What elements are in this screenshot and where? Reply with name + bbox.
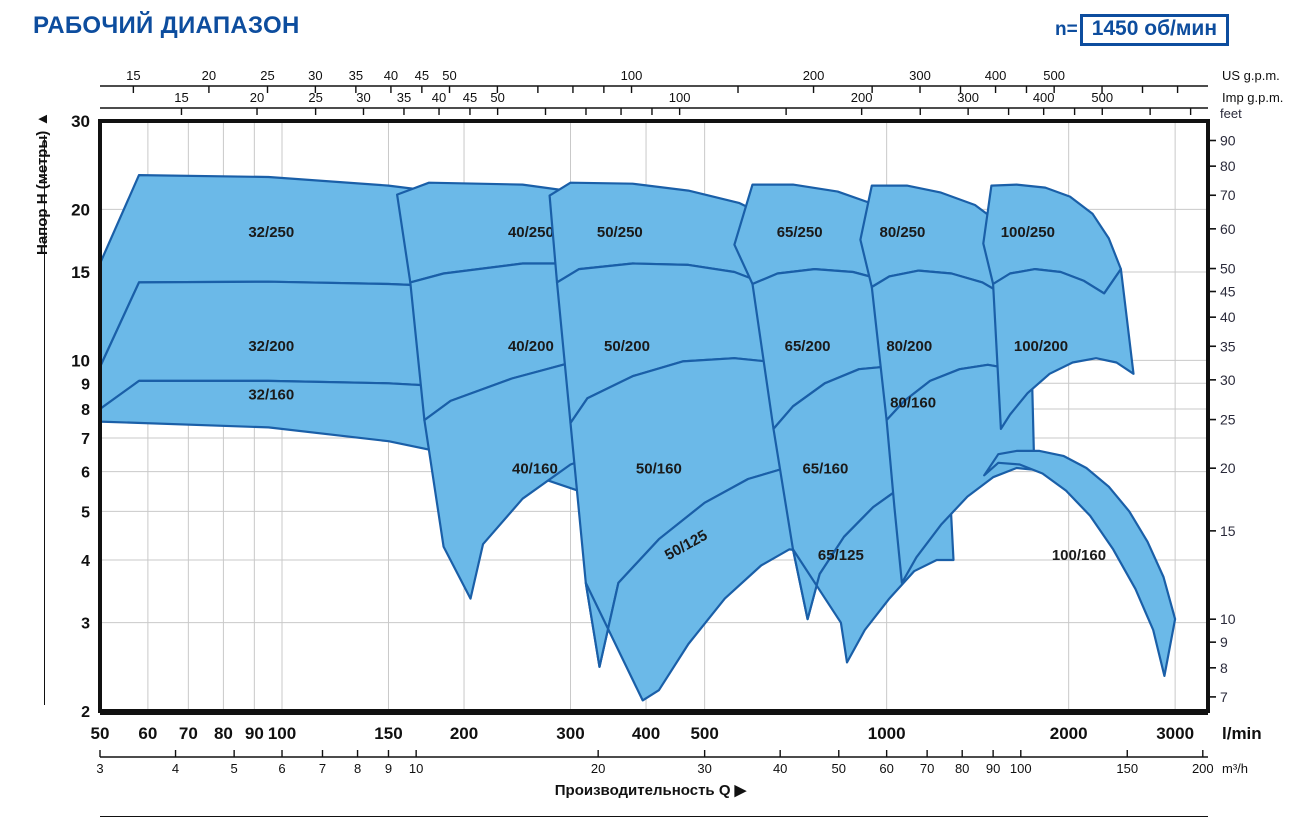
y-tick-label-8: 8 xyxy=(81,402,90,419)
x-axis2-tick-label-90: 90 xyxy=(986,761,1000,776)
x-axis2-tick-label-40: 40 xyxy=(773,761,787,776)
envelope-label: 80/200 xyxy=(886,338,932,355)
y-right-tick-label-50: 50 xyxy=(1220,261,1236,277)
envelope-label: 65/125 xyxy=(818,547,864,564)
x-axis2-tick-label-60: 60 xyxy=(879,761,893,776)
envelope-label: 40/160 xyxy=(512,460,558,477)
x-top-imp-axis-tick-label-100: 100 xyxy=(669,90,691,105)
x-axis2-tick-label-8: 8 xyxy=(354,761,361,776)
y-right-tick-label-30: 30 xyxy=(1220,372,1236,388)
x-top-us-axis-tick-label-400: 400 xyxy=(985,68,1007,83)
y-right-tick-label-8: 8 xyxy=(1220,660,1228,676)
x-tick-label-150: 150 xyxy=(374,724,402,743)
x-tick-label-3000: 3000 xyxy=(1156,724,1194,743)
y-tick-label-2: 2 xyxy=(81,704,90,721)
y-right-tick-label-40: 40 xyxy=(1220,309,1236,325)
x-axis2-tick-label-7: 7 xyxy=(319,761,326,776)
x-axis2-tick-label-5: 5 xyxy=(231,761,238,776)
x-tick-label-50: 50 xyxy=(91,724,110,743)
y-tick-label-4: 4 xyxy=(81,553,90,570)
envelope-label: 50/250 xyxy=(597,224,643,241)
x-axis2-tick-label-70: 70 xyxy=(920,761,934,776)
y-right-tick-label-20: 20 xyxy=(1220,460,1236,476)
x-tick-label-1000: 1000 xyxy=(868,724,906,743)
x-top-imp-axis-tick-label-25: 25 xyxy=(308,90,322,105)
x-tick-label-200: 200 xyxy=(450,724,478,743)
x-top-imp-axis-tick-label-15: 15 xyxy=(174,90,188,105)
x-top-imp-axis-unit-label: Imp g.p.m. xyxy=(1222,90,1283,105)
envelope-label: 65/200 xyxy=(785,338,831,355)
x-tick-label-400: 400 xyxy=(632,724,660,743)
envelope-label: 65/160 xyxy=(802,460,848,477)
x-axis2-tick-label-150: 150 xyxy=(1116,761,1138,776)
y-tick-label-30: 30 xyxy=(71,112,90,131)
x-top-imp-axis-tick-label-200: 200 xyxy=(851,90,873,105)
envelope-label: 50/200 xyxy=(604,338,650,355)
envelope-label: 65/250 xyxy=(777,224,823,241)
y-right-tick-label-10: 10 xyxy=(1220,611,1236,627)
x-top-imp-axis-tick-label-30: 30 xyxy=(356,90,370,105)
envelope-label: 40/250 xyxy=(508,224,554,241)
x-top-us-axis-tick-label-20: 20 xyxy=(202,68,216,83)
x-top-us-axis-tick-label-50: 50 xyxy=(442,68,456,83)
x-axis2-tick-label-20: 20 xyxy=(591,761,605,776)
y-right-tick-label-80: 80 xyxy=(1220,158,1236,174)
y-right-unit-label: feet xyxy=(1220,106,1242,121)
y-right-tick-label-70: 70 xyxy=(1220,187,1236,203)
x-axis2-tick-label-100: 100 xyxy=(1010,761,1032,776)
x-tick-label-90: 90 xyxy=(245,724,264,743)
x-axis2-tick-label-6: 6 xyxy=(278,761,285,776)
envelope-label: 100/250 xyxy=(1001,224,1055,241)
x-tick-label-100: 100 xyxy=(268,724,296,743)
y-tick-label-20: 20 xyxy=(71,200,90,219)
x-top-imp-axis-tick-label-50: 50 xyxy=(490,90,504,105)
x-axis2-tick-label-10: 10 xyxy=(409,761,423,776)
y-right-tick-label-35: 35 xyxy=(1220,338,1236,354)
x-top-us-axis-unit-label: US g.p.m. xyxy=(1222,68,1280,83)
y-right-tick-label-60: 60 xyxy=(1220,221,1236,237)
y-tick-label-9: 9 xyxy=(81,376,90,393)
x-top-us-axis-tick-label-15: 15 xyxy=(126,68,140,83)
x-axis2-tick-label-30: 30 xyxy=(697,761,711,776)
x-top-us-axis-tick-label-45: 45 xyxy=(415,68,429,83)
x-top-us-axis-tick-label-25: 25 xyxy=(260,68,274,83)
envelope-label: 50/160 xyxy=(636,460,682,477)
x-axis2-tick-label-3: 3 xyxy=(96,761,103,776)
x-axis2-tick-label-9: 9 xyxy=(385,761,392,776)
x-tick-label-70: 70 xyxy=(179,724,198,743)
envelope-label: 40/200 xyxy=(508,338,554,355)
y-tick-label-5: 5 xyxy=(81,504,90,521)
x-axis2-tick-label-200: 200 xyxy=(1192,761,1214,776)
y-tick-label-7: 7 xyxy=(81,431,90,448)
x-axis2-tick-label-4: 4 xyxy=(172,761,179,776)
y-tick-label-10: 10 xyxy=(71,351,90,370)
envelope-label: 80/250 xyxy=(879,224,925,241)
x-top-imp-axis-tick-label-40: 40 xyxy=(432,90,446,105)
y-right-tick-label-7: 7 xyxy=(1220,689,1228,705)
x-top-imp-axis-tick-label-20: 20 xyxy=(250,90,264,105)
y-tick-label-3: 3 xyxy=(81,616,90,633)
x-top-imp-axis-tick-label-500: 500 xyxy=(1091,90,1113,105)
x-top-us-axis-tick-label-40: 40 xyxy=(384,68,398,83)
x-tick-label-2000: 2000 xyxy=(1050,724,1088,743)
envelope-label: 100/160 xyxy=(1052,547,1106,564)
x-tick-label-300: 300 xyxy=(556,724,584,743)
x-axis2-tick-label-80: 80 xyxy=(955,761,969,776)
x-axis2-tick-label-50: 50 xyxy=(832,761,846,776)
y-right-tick-label-90: 90 xyxy=(1220,132,1236,148)
envelope-label: 32/200 xyxy=(248,338,294,355)
x-top-imp-axis-tick-label-35: 35 xyxy=(397,90,411,105)
envelope-label: 80/160 xyxy=(890,395,936,412)
x-tick-label-500: 500 xyxy=(690,724,718,743)
envelope-label: 32/160 xyxy=(248,387,294,404)
x-top-us-axis-tick-label-100: 100 xyxy=(621,68,643,83)
x-unit-label: l/min xyxy=(1222,724,1262,743)
x-tick-label-80: 80 xyxy=(214,724,233,743)
x-tick-label-60: 60 xyxy=(138,724,157,743)
x-top-us-axis-tick-label-300: 300 xyxy=(909,68,931,83)
y-right-tick-label-15: 15 xyxy=(1220,523,1236,539)
y-right-tick-label-25: 25 xyxy=(1220,412,1236,428)
y-right-tick-label-9: 9 xyxy=(1220,634,1228,650)
x-top-us-axis-tick-label-200: 200 xyxy=(803,68,825,83)
y-right-tick-label-45: 45 xyxy=(1220,284,1236,300)
x-top-us-axis-tick-label-500: 500 xyxy=(1043,68,1065,83)
performance-chart: 32/25032/20032/16040/25040/20040/16050/2… xyxy=(0,0,1301,834)
x-axis2-unit-label: m³/h xyxy=(1222,761,1248,776)
y-tick-label-15: 15 xyxy=(71,263,90,282)
x-top-imp-axis-tick-label-300: 300 xyxy=(957,90,979,105)
y-tick-label-6: 6 xyxy=(81,465,90,482)
x-top-us-axis-tick-label-35: 35 xyxy=(349,68,363,83)
envelope-label: 32/250 xyxy=(248,224,294,241)
envelope-label: 100/200 xyxy=(1014,338,1068,355)
x-top-imp-axis-tick-label-45: 45 xyxy=(463,90,477,105)
x-top-imp-axis-tick-label-400: 400 xyxy=(1033,90,1055,105)
x-top-us-axis-tick-label-30: 30 xyxy=(308,68,322,83)
